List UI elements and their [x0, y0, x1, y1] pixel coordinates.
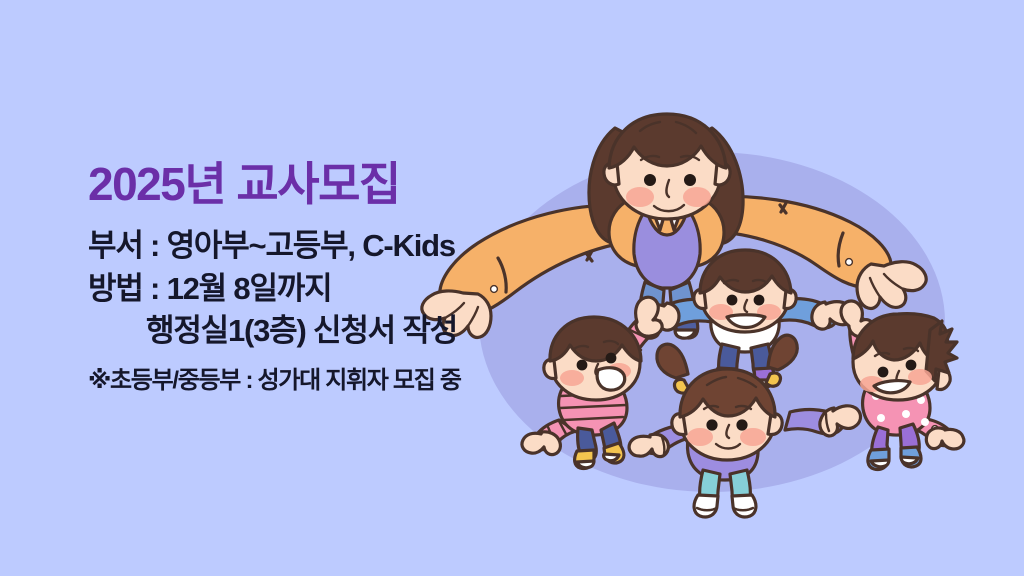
info-line-method: 방법 : 12월 8일까지	[88, 268, 558, 311]
info-line-location: 행정실1(3층) 신청서 작성	[88, 310, 558, 353]
info-line-department: 부서 : 영아부~고등부, C-Kids	[88, 225, 558, 268]
info-note-choir: ※초등부/중등부 : 성가대 지휘자 모집 중	[88, 365, 558, 396]
poster-text-block: 2025년 교사모집 부서 : 영아부~고등부, C-Kids 방법 : 12월…	[88, 160, 558, 396]
page-title: 2025년 교사모집	[88, 160, 558, 209]
poster-canvas: .ol { stroke:#4a332a; stroke-width:3.2; …	[0, 0, 1024, 576]
